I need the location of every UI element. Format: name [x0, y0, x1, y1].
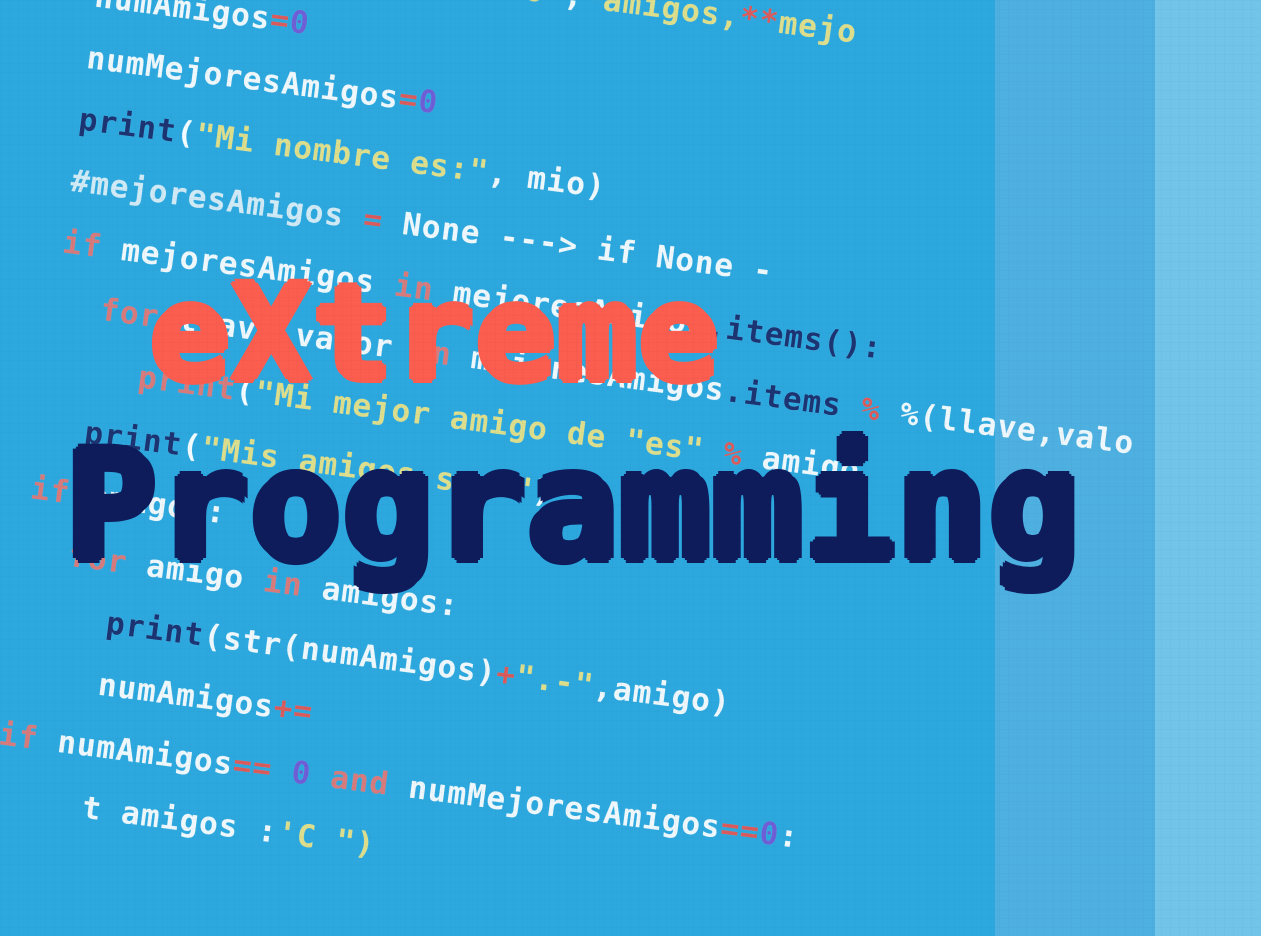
code-token: numMejoresAmigos	[406, 770, 723, 846]
code-token: .items	[722, 373, 844, 424]
code-token: print	[104, 605, 206, 653]
code-token: print	[77, 102, 179, 150]
headline-line-extreme: eXtreme	[150, 268, 720, 400]
code-token: (	[174, 114, 198, 152]
tonal-band-right	[1155, 0, 1261, 936]
code-token: numAmigos	[93, 0, 273, 37]
headline-line-programming: Programming	[66, 432, 1081, 582]
code-token: mejo	[777, 5, 860, 51]
code-token: if	[61, 224, 124, 267]
code-token: :	[777, 818, 801, 856]
code-token: ,amigo)	[592, 669, 733, 722]
code-token: +	[494, 656, 518, 694]
code-token: numAmigos	[55, 724, 235, 782]
code-token: ==	[231, 747, 275, 788]
poster-canvas: def nombres (mio='Ricardo',*amigos,**mej…	[0, 0, 1261, 936]
code-token: t amigos :	[80, 790, 280, 851]
code-token: "Mi nombre es:"	[194, 117, 491, 191]
code-token: =	[342, 198, 405, 241]
code-line: numAmigos+=	[96, 667, 315, 731]
code-token: numAmigos	[96, 667, 276, 725]
code-token: -	[751, 252, 775, 290]
code-token: ==	[718, 810, 762, 851]
code-line: print("Mi nombre es:", mio)	[77, 102, 608, 206]
code-token: =	[268, 1, 292, 39]
code-line: if numAmigos== 0 and numMejoresAmigos==0…	[0, 716, 801, 856]
code-token: if	[0, 716, 60, 759]
code-token: *	[582, 0, 606, 18]
code-line: t amigos :'C ")	[80, 790, 377, 864]
code-token: +=	[272, 690, 316, 731]
code-token: 0	[270, 752, 333, 795]
code-token: numMejoresAmigos	[85, 40, 402, 116]
code-token: amigos,	[601, 0, 742, 35]
code-token: **	[738, 0, 782, 41]
code-token: .items():	[704, 308, 884, 366]
code-token: , mio)	[486, 155, 608, 206]
code-token: 'Ricardo'	[387, 0, 567, 13]
code-line: print(str(numAmigos)+".-",amigo)	[104, 605, 733, 722]
code-token: =	[397, 81, 421, 119]
code-token: and	[328, 759, 411, 805]
code-token: (str(numAmigos)	[202, 618, 499, 692]
code-line: numAmigos=0	[93, 0, 312, 42]
code-token: 'C ")	[275, 815, 377, 863]
code-token: 0	[288, 4, 312, 42]
code-token: ".-"	[514, 658, 597, 704]
code-token: #mejoresAmigos	[69, 163, 347, 234]
code-token: ,	[562, 0, 586, 15]
code-line: def nombres (mio='Ricardo',*amigos,**mej…	[55, 0, 859, 51]
code-line: numMejoresAmigos=0	[85, 40, 441, 121]
code-token: 0	[416, 83, 440, 121]
code-token: 0	[757, 815, 781, 853]
